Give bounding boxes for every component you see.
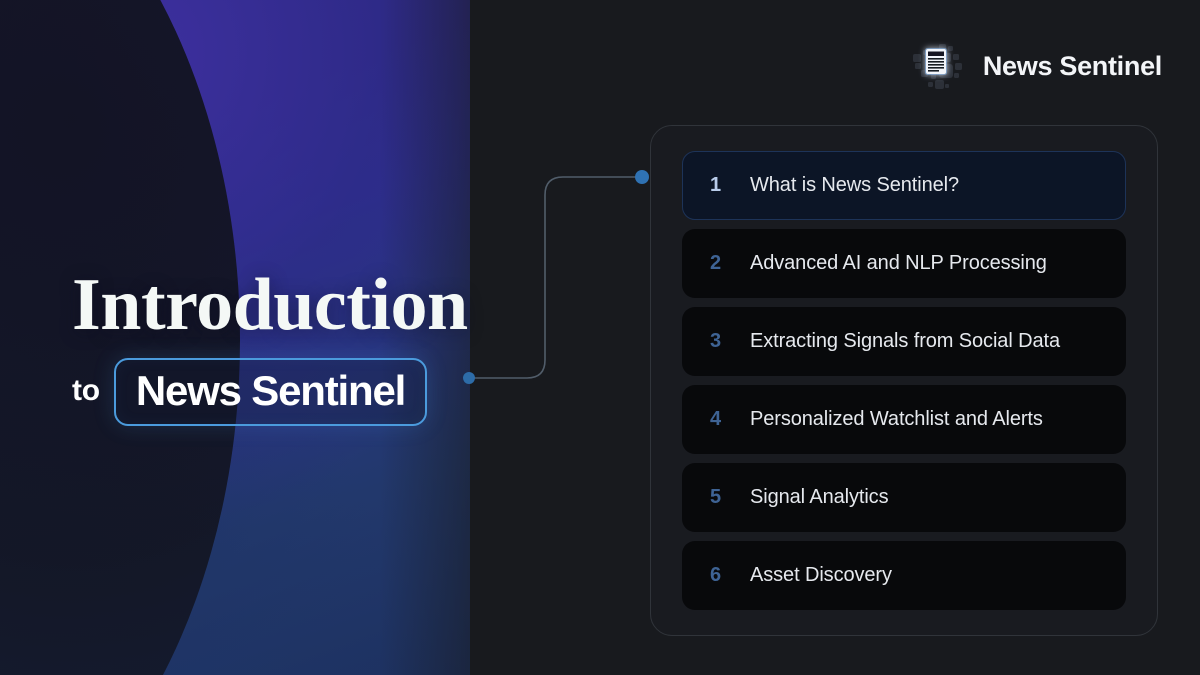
- agenda-item-2[interactable]: 2 Advanced AI and NLP Processing: [682, 229, 1126, 298]
- slide-canvas: News Sentinel Introduction to News Senti…: [0, 0, 1200, 675]
- hero-highlight-chip: News Sentinel: [114, 358, 427, 426]
- page-title: Introduction: [72, 268, 468, 342]
- agenda-item-5[interactable]: 5 Signal Analytics: [682, 463, 1126, 532]
- agenda-item-label: What is News Sentinel?: [750, 174, 959, 197]
- hero-subtitle-row: to News Sentinel: [72, 358, 468, 426]
- agenda-item-number: 2: [710, 252, 724, 275]
- agenda-item-3[interactable]: 3 Extracting Signals from Social Data: [682, 307, 1126, 376]
- agenda-panel: 1 What is News Sentinel? 2 Advanced AI a…: [650, 125, 1158, 636]
- agenda-item-number: 4: [710, 408, 724, 431]
- agenda-item-number: 6: [710, 564, 724, 587]
- brand-name: News Sentinel: [983, 51, 1162, 82]
- agenda-item-label: Signal Analytics: [750, 486, 888, 509]
- hero-highlight-text: News Sentinel: [136, 367, 405, 414]
- agenda-item-number: 3: [710, 330, 724, 353]
- agenda-item-6[interactable]: 6 Asset Discovery: [682, 541, 1126, 610]
- hero-title-block: Introduction to News Sentinel: [72, 268, 468, 426]
- agenda-item-number: 1: [710, 174, 724, 197]
- hero-connector-word: to: [72, 374, 100, 410]
- agenda-item-label: Asset Discovery: [750, 564, 892, 587]
- agenda-item-number: 5: [710, 486, 724, 509]
- agenda-item-label: Advanced AI and NLP Processing: [750, 252, 1047, 275]
- agenda-item-label: Personalized Watchlist and Alerts: [750, 408, 1043, 431]
- newspaper-pixel-glow-icon: [909, 40, 967, 92]
- agenda-item-4[interactable]: 4 Personalized Watchlist and Alerts: [682, 385, 1126, 454]
- agenda-item-label: Extracting Signals from Social Data: [750, 330, 1060, 353]
- brand-header: News Sentinel: [909, 40, 1162, 92]
- agenda-item-1[interactable]: 1 What is News Sentinel?: [682, 151, 1126, 220]
